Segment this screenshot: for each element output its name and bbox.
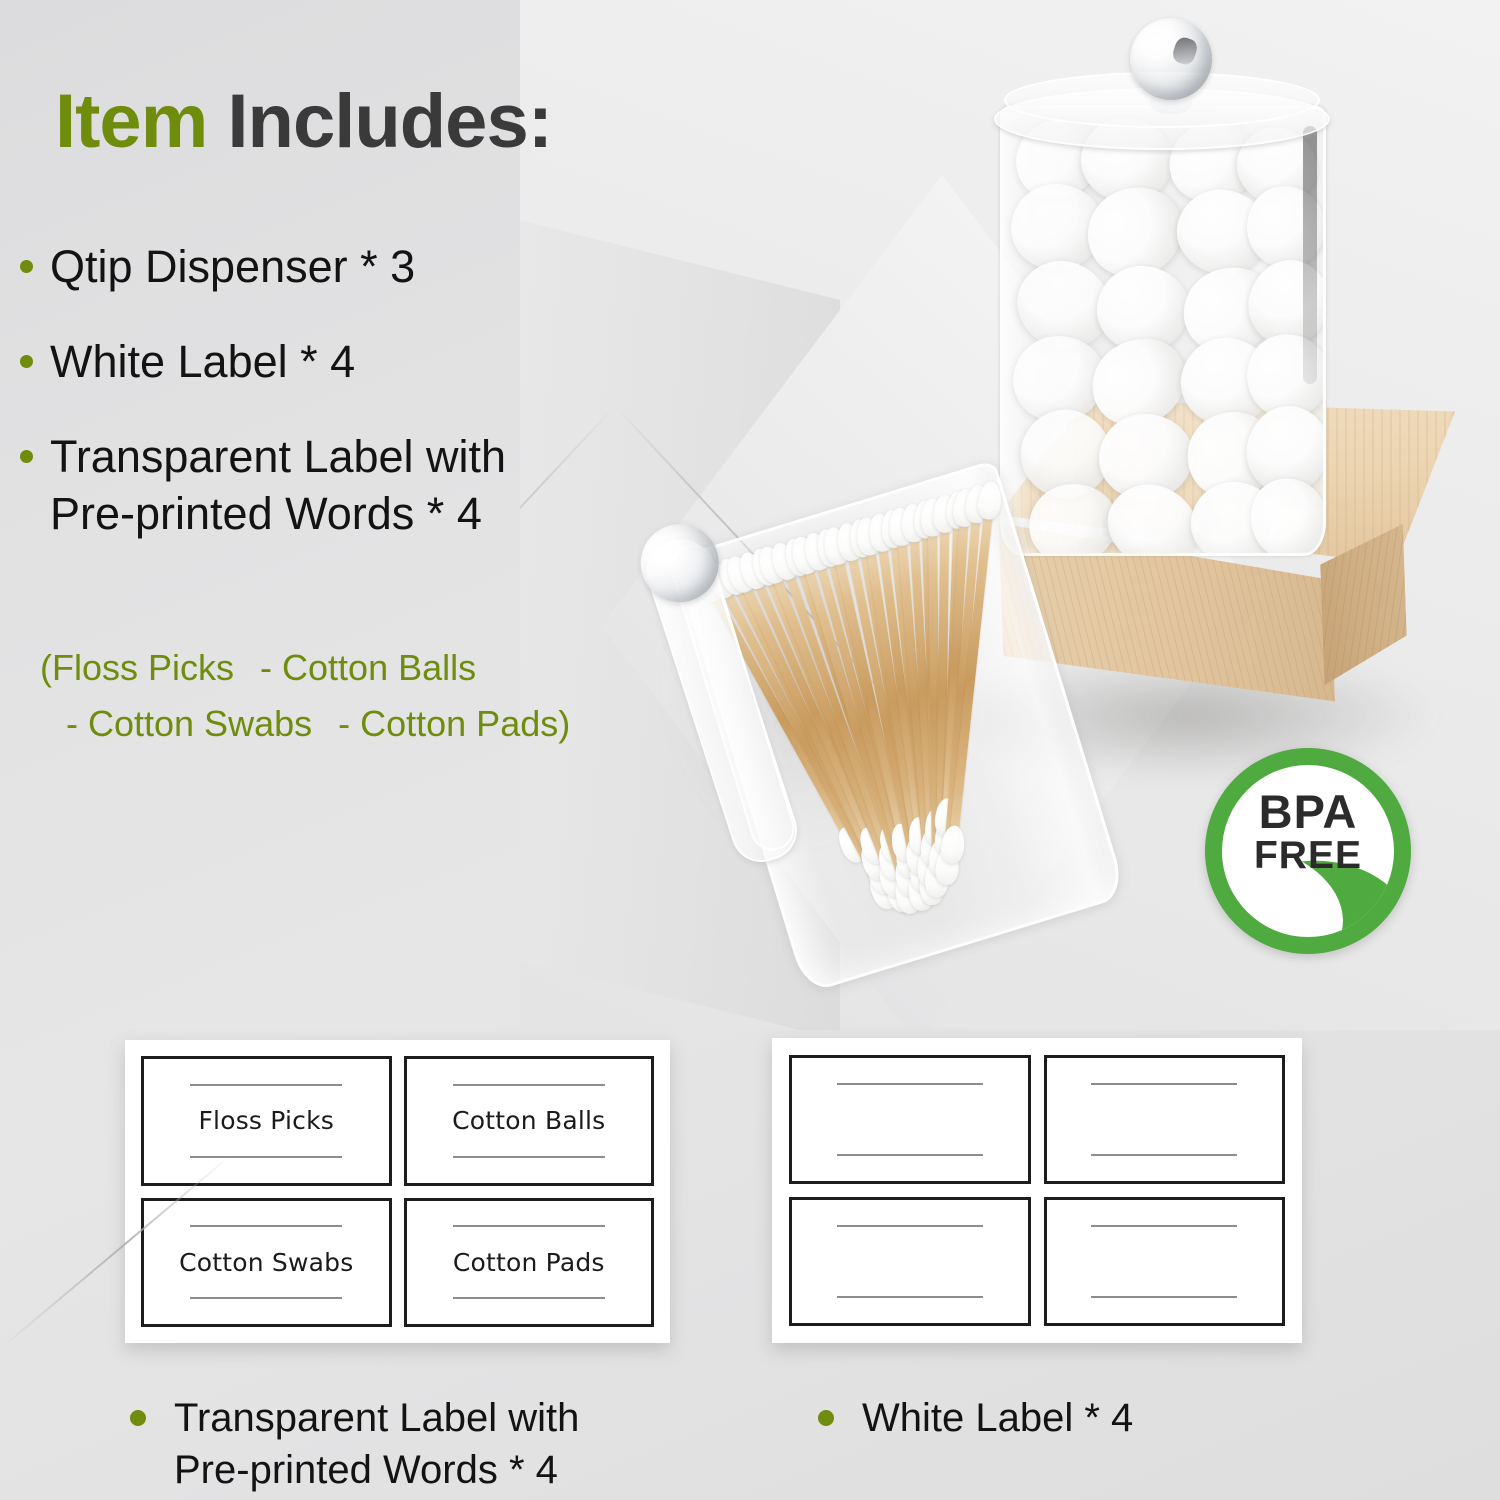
list-item: Qtip Dispenser * 3 <box>20 238 680 295</box>
bullet-dot-icon <box>20 450 33 463</box>
bpa-badge-line2: FREE <box>1222 835 1394 877</box>
label-rule-bottom <box>1091 1296 1237 1298</box>
label-rule-bottom <box>453 1156 605 1158</box>
bullet-dot-icon <box>130 1410 146 1426</box>
label-rule-top <box>190 1225 342 1227</box>
paren-open: ( <box>40 647 52 688</box>
list-item-label: Transparent Label with Pre-printed Words… <box>50 428 506 542</box>
label-rule-top <box>837 1225 983 1227</box>
product-infographic: BPA FREE Item Includes: Qtip Dispenser *… <box>0 0 1500 1500</box>
label-cell <box>1044 1055 1286 1184</box>
label-rule-bottom <box>837 1154 983 1156</box>
label-cell-text: Floss Picks <box>198 1106 334 1135</box>
label-cell: Cotton Balls <box>404 1056 655 1186</box>
jar-knob <box>1130 18 1212 100</box>
bpa-badge-inner: BPA FREE <box>1222 765 1394 937</box>
label-rule-bottom <box>453 1297 605 1299</box>
label-cell-text: Cotton Balls <box>452 1106 605 1135</box>
label-cell <box>1044 1197 1286 1326</box>
includes-list: Qtip Dispenser * 3 White Label * 4 Trans… <box>20 238 680 580</box>
white-label-sheet <box>772 1038 1302 1343</box>
label-rule-top <box>453 1084 605 1086</box>
bpa-free-badge: BPA FREE <box>1205 748 1411 954</box>
label-rule-top <box>190 1084 342 1086</box>
label-cell: Floss Picks <box>141 1056 392 1186</box>
label-rule-bottom <box>190 1297 342 1299</box>
caption-transparent-label: Transparent Label with Pre-printed Words… <box>130 1392 579 1496</box>
preprinted-words-line-2: - Cotton Swabs- Cotton Pads) <box>40 696 660 752</box>
page-title-highlight: Item <box>55 79 207 164</box>
preprinted-word-cotton-balls: - Cotton Balls <box>260 647 476 688</box>
preprinted-words-line-1: (Floss Picks- Cotton Balls <box>40 640 660 696</box>
list-item-label: White Label * 4 <box>50 333 355 390</box>
preprinted-word-cotton-swabs: - Cotton Swabs <box>66 703 312 744</box>
label-cell: Cotton Pads <box>404 1198 655 1328</box>
label-rule-top <box>453 1225 605 1227</box>
caption-transparent-label-text: Transparent Label with Pre-printed Words… <box>174 1392 579 1496</box>
caption-white-label: White Label * 4 <box>818 1392 1133 1444</box>
label-rule-top <box>1091 1083 1237 1085</box>
label-rule-top <box>1091 1225 1237 1227</box>
preprinted-words-note: (Floss Picks- Cotton Balls - Cotton Swab… <box>40 640 660 752</box>
paren-close: ) <box>558 703 570 744</box>
label-cell: Cotton Swabs <box>141 1198 392 1328</box>
bullet-dot-icon <box>818 1410 834 1426</box>
bpa-badge-text: BPA FREE <box>1222 789 1394 877</box>
list-item: White Label * 4 <box>20 333 680 390</box>
caption-white-label-text: White Label * 4 <box>862 1392 1133 1444</box>
list-item: Transparent Label with Pre-printed Words… <box>20 428 680 542</box>
page-title: Item Includes: <box>55 78 552 165</box>
bullet-dot-icon <box>20 260 33 273</box>
bullet-dot-icon <box>20 355 33 368</box>
label-rule-bottom <box>190 1156 342 1158</box>
label-rule-top <box>837 1083 983 1085</box>
transparent-label-sheet: Floss Picks Cotton Balls Cotton Swabs Co… <box>125 1040 670 1343</box>
label-cell <box>789 1055 1031 1184</box>
page-title-rest: Includes: <box>227 79 552 164</box>
preprinted-word-floss-picks: Floss Picks <box>52 647 234 688</box>
label-rule-bottom <box>837 1296 983 1298</box>
label-cell-text: Cotton Swabs <box>179 1248 353 1277</box>
preprinted-word-cotton-pads: - Cotton Pads <box>338 703 558 744</box>
label-rule-bottom <box>1091 1154 1237 1156</box>
label-cell-text: Cotton Pads <box>453 1248 605 1277</box>
bpa-badge-line1: BPA <box>1222 789 1394 835</box>
label-cell <box>789 1197 1031 1326</box>
list-item-label: Qtip Dispenser * 3 <box>50 238 415 295</box>
